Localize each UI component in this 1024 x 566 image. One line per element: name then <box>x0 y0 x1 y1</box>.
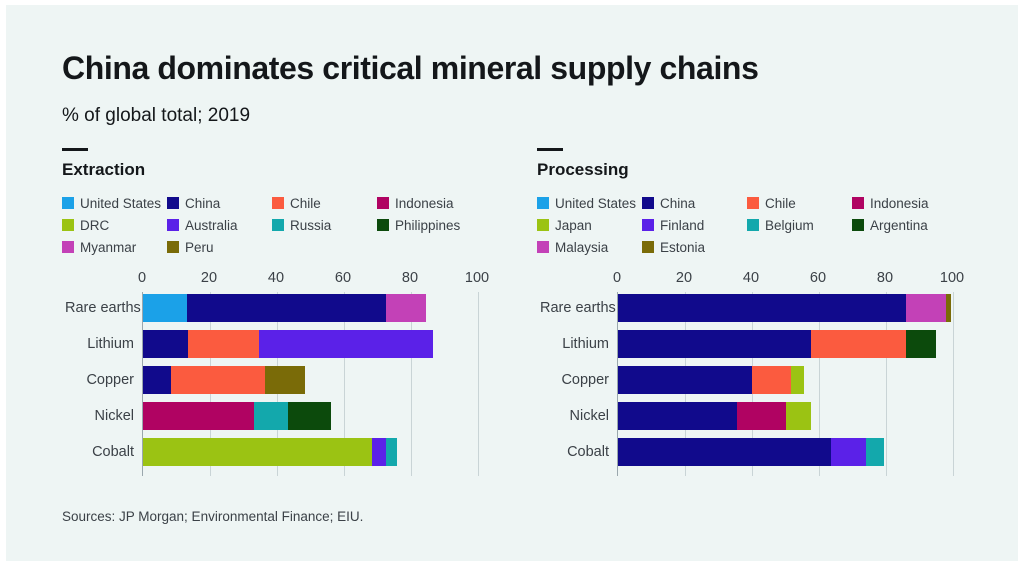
legend-label: Philippines <box>395 218 460 233</box>
bar-segment[interactable] <box>786 402 811 430</box>
legend-swatch-icon <box>642 241 654 253</box>
axis-tick-label: 100 <box>465 270 489 286</box>
bar-segment[interactable] <box>143 438 372 466</box>
chart-extraction: 020406080100 Rare earthsLithiumCopperNic… <box>62 270 502 476</box>
stacked-bar[interactable] <box>618 438 884 466</box>
legend-swatch-icon <box>62 197 74 209</box>
legend-label: Belgium <box>765 218 814 233</box>
legend-item[interactable]: China <box>167 192 272 214</box>
bar-row[interactable]: Lithium <box>618 330 959 358</box>
stacked-bar[interactable] <box>143 330 433 358</box>
legend-swatch-icon <box>537 219 549 231</box>
bar-row[interactable]: Nickel <box>618 402 959 430</box>
bar-segment[interactable] <box>618 330 811 358</box>
legend-processing: United StatesChinaChileIndonesiaJapanFin… <box>537 192 957 258</box>
bar-segment[interactable] <box>188 330 259 358</box>
bar-segment[interactable] <box>906 330 936 358</box>
bar-segment[interactable] <box>618 402 737 430</box>
legend-swatch-icon <box>62 219 74 231</box>
stacked-bar[interactable] <box>618 402 811 430</box>
legend-swatch-icon <box>167 197 179 209</box>
axis-tick-label: 80 <box>402 270 418 286</box>
legend-item[interactable]: Malaysia <box>537 236 642 258</box>
legend-swatch-icon <box>852 197 864 209</box>
bar-segment[interactable] <box>866 438 884 466</box>
page-edge-bottom <box>0 561 1024 566</box>
legend-item[interactable]: Indonesia <box>852 192 957 214</box>
bar-segment[interactable] <box>259 330 433 358</box>
bar-row[interactable]: Copper <box>143 366 484 394</box>
legend-item[interactable]: Finland <box>642 214 747 236</box>
bar-row[interactable]: Rare earths <box>618 294 959 322</box>
bar-category-label: Nickel <box>540 402 618 430</box>
axis-tick-label: 0 <box>613 270 621 286</box>
bar-row[interactable]: Cobalt <box>618 438 959 466</box>
bar-category-label: Rare earths <box>65 294 143 322</box>
bar-row[interactable]: Lithium <box>143 330 484 358</box>
bar-segment[interactable] <box>143 366 171 394</box>
bar-category-label: Cobalt <box>540 438 618 466</box>
legend-label: DRC <box>80 218 109 233</box>
bar-row[interactable]: Nickel <box>143 402 484 430</box>
axis-tick-label: 60 <box>335 270 351 286</box>
bar-segment[interactable] <box>618 294 906 322</box>
stacked-bar[interactable] <box>618 330 936 358</box>
legend-extraction: United StatesChinaChileIndonesiaDRCAustr… <box>62 192 482 258</box>
legend-label: Russia <box>290 218 331 233</box>
legend-label: Peru <box>185 240 214 255</box>
axis-tick-label: 60 <box>810 270 826 286</box>
bar-segment[interactable] <box>386 438 397 466</box>
legend-label: China <box>660 196 695 211</box>
infographic-page: China dominates critical mineral supply … <box>0 0 1024 566</box>
bar-segment[interactable] <box>372 438 386 466</box>
legend-swatch-icon <box>852 219 864 231</box>
axis-tick-label: 20 <box>676 270 692 286</box>
page-title: China dominates critical mineral supply … <box>62 52 758 86</box>
legend-item[interactable]: Estonia <box>642 236 747 258</box>
axis-tick-label: 100 <box>940 270 964 286</box>
bar-row[interactable]: Copper <box>618 366 959 394</box>
panel-heading-processing: Processing <box>537 160 997 180</box>
bar-segment[interactable] <box>265 366 305 394</box>
bar-segment[interactable] <box>254 402 288 430</box>
axis-tick-label: 80 <box>877 270 893 286</box>
panel-rule <box>537 148 563 151</box>
page-edge-left <box>0 0 6 566</box>
chart-processing: 020406080100 Rare earthsLithiumCopperNic… <box>537 270 997 476</box>
panel-rule <box>62 148 88 151</box>
axis-tick-label: 40 <box>743 270 759 286</box>
bar-segment[interactable] <box>187 294 386 322</box>
stacked-bar[interactable] <box>618 366 804 394</box>
legend-label: Chile <box>765 196 796 211</box>
axis-tick-label: 20 <box>201 270 217 286</box>
legend-swatch-icon <box>272 197 284 209</box>
bar-segment[interactable] <box>171 366 265 394</box>
legend-swatch-icon <box>167 219 179 231</box>
legend-label: Australia <box>185 218 238 233</box>
page-edge-right <box>1018 0 1024 566</box>
bar-category-label: Copper <box>65 366 143 394</box>
legend-swatch-icon <box>377 197 389 209</box>
legend-item[interactable]: Chile <box>272 192 377 214</box>
legend-swatch-icon <box>272 219 284 231</box>
x-axis-processing: 020406080100 <box>617 270 958 292</box>
legend-label: Argentina <box>870 218 928 233</box>
bar-segment[interactable] <box>618 438 831 466</box>
bar-segment[interactable] <box>143 402 254 430</box>
legend-swatch-icon <box>537 197 549 209</box>
bar-segment[interactable] <box>737 402 786 430</box>
bar-segment[interactable] <box>811 330 906 358</box>
legend-item[interactable]: Philippines <box>377 214 482 236</box>
x-axis-extraction: 020406080100 <box>142 270 483 292</box>
bar-segment[interactable] <box>143 294 187 322</box>
axis-tick-label: 40 <box>268 270 284 286</box>
legend-label: United States <box>555 196 636 211</box>
legend-swatch-icon <box>62 241 74 253</box>
panel-processing: Processing United StatesChinaChileIndone… <box>537 148 997 476</box>
bar-segment[interactable] <box>791 366 804 394</box>
bar-segment[interactable] <box>386 294 426 322</box>
plot-area-processing: Rare earthsLithiumCopperNickelCobalt <box>617 292 958 476</box>
legend-item[interactable]: Belgium <box>747 214 852 236</box>
bar-category-label: Cobalt <box>65 438 143 466</box>
bar-segment[interactable] <box>831 438 866 466</box>
legend-item[interactable]: Chile <box>747 192 852 214</box>
bar-segment[interactable] <box>143 330 188 358</box>
bar-segment[interactable] <box>288 402 331 430</box>
legend-label: China <box>185 196 220 211</box>
legend-label: United States <box>80 196 161 211</box>
bar-category-label: Rare earths <box>540 294 618 322</box>
legend-label: Estonia <box>660 240 705 255</box>
legend-item[interactable]: Australia <box>167 214 272 236</box>
legend-swatch-icon <box>642 197 654 209</box>
legend-item[interactable]: Peru <box>167 236 272 258</box>
plot-area-extraction: Rare earthsLithiumCopperNickelCobalt <box>142 292 483 476</box>
bar-category-label: Lithium <box>65 330 143 358</box>
legend-item[interactable]: Myanmar <box>62 236 167 258</box>
legend-label: Chile <box>290 196 321 211</box>
bar-segment[interactable] <box>906 294 946 322</box>
legend-item[interactable]: Russia <box>272 214 377 236</box>
bar-category-label: Lithium <box>540 330 618 358</box>
legend-item[interactable]: Argentina <box>852 214 957 236</box>
legend-swatch-icon <box>537 241 549 253</box>
legend-label: Myanmar <box>80 240 136 255</box>
page-subtitle: % of global total; 2019 <box>62 105 250 127</box>
bar-category-label: Copper <box>540 366 618 394</box>
legend-label: Finland <box>660 218 704 233</box>
legend-item[interactable]: DRC <box>62 214 167 236</box>
legend-swatch-icon <box>377 219 389 231</box>
stacked-bar[interactable] <box>143 294 426 322</box>
legend-swatch-icon <box>167 241 179 253</box>
sources-note: Sources: JP Morgan; Environmental Financ… <box>62 509 363 524</box>
legend-item[interactable]: Japan <box>537 214 642 236</box>
bar-segment[interactable] <box>752 366 791 394</box>
legend-label: Indonesia <box>395 196 454 211</box>
legend-item[interactable]: Indonesia <box>377 192 482 214</box>
panel-extraction: Extraction United StatesChinaChileIndone… <box>62 148 502 476</box>
stacked-bar[interactable] <box>618 294 951 322</box>
panel-heading-extraction: Extraction <box>62 160 502 180</box>
bar-row[interactable]: Rare earths <box>143 294 484 322</box>
legend-swatch-icon <box>747 219 759 231</box>
legend-swatch-icon <box>642 219 654 231</box>
bar-row[interactable]: Cobalt <box>143 438 484 466</box>
stacked-bar[interactable] <box>143 402 331 430</box>
stacked-bar[interactable] <box>143 438 397 466</box>
legend-swatch-icon <box>747 197 759 209</box>
stacked-bar[interactable] <box>143 366 305 394</box>
legend-item[interactable]: United States <box>537 192 642 214</box>
bar-segment[interactable] <box>618 366 752 394</box>
legend-item[interactable]: United States <box>62 192 167 214</box>
legend-label: Japan <box>555 218 592 233</box>
bar-segment[interactable] <box>946 294 951 322</box>
bar-category-label: Nickel <box>65 402 143 430</box>
legend-label: Malaysia <box>555 240 608 255</box>
legend-item[interactable]: China <box>642 192 747 214</box>
axis-tick-label: 0 <box>138 270 146 286</box>
page-edge-top <box>0 0 1024 5</box>
legend-label: Indonesia <box>870 196 929 211</box>
